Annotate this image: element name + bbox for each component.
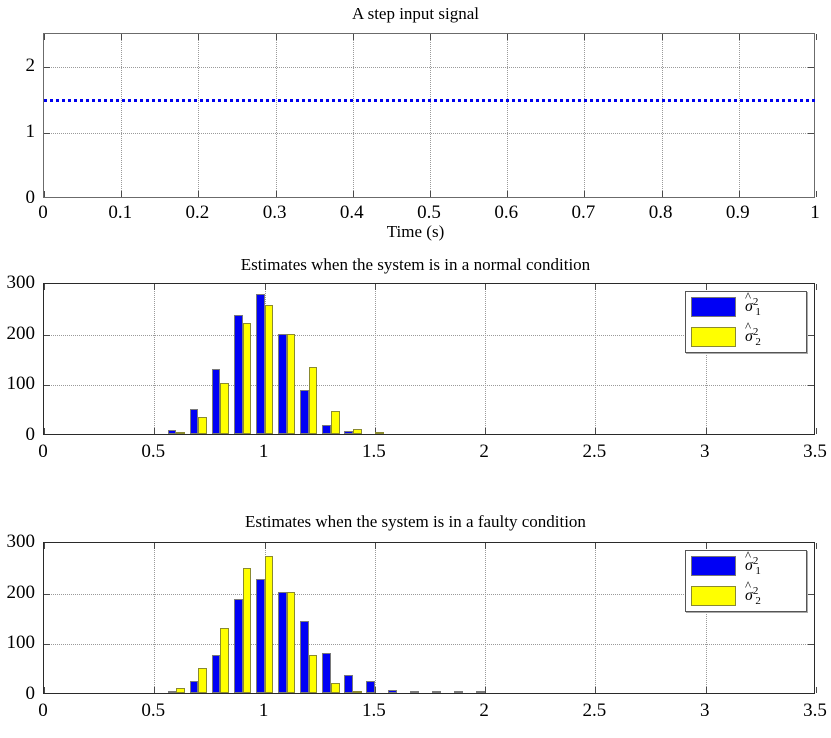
bar-sigma2-bin-0.8 bbox=[220, 383, 229, 434]
bar-sigma1-bin-0.7 bbox=[190, 681, 199, 693]
xtick-mark-top bbox=[44, 543, 45, 549]
ytick-mark-right bbox=[808, 385, 814, 386]
xtick-label: 3 bbox=[700, 700, 710, 722]
xtick-mark-top bbox=[816, 34, 817, 40]
xtick-label: 1.5 bbox=[362, 700, 386, 722]
ytick-label: 2 bbox=[0, 55, 35, 77]
legend-swatch-sigma1-hat-squared bbox=[691, 297, 736, 317]
bar-sigma1-bin-0.9 bbox=[234, 315, 243, 434]
xtick-label: 2.5 bbox=[583, 700, 607, 722]
xtick-mark-top bbox=[44, 284, 45, 290]
xtick-mark bbox=[44, 191, 45, 197]
ytick-mark-right bbox=[808, 133, 814, 134]
bar-sigma2-bin-1.2 bbox=[309, 367, 318, 434]
ytick-label: 100 bbox=[0, 373, 35, 395]
bar-sigma2-bin-0.9 bbox=[243, 323, 252, 434]
gridline-vertical bbox=[198, 34, 199, 197]
xtick-mark-top bbox=[595, 543, 596, 549]
xtick-mark bbox=[375, 687, 376, 693]
bar-sigma1-bin-0.6 bbox=[168, 691, 177, 693]
bar-sigma2-bin-1.5 bbox=[375, 432, 384, 434]
xtick-label: 3 bbox=[700, 441, 710, 463]
ytick-label: 1 bbox=[0, 121, 35, 143]
xtick-mark-top bbox=[430, 34, 431, 40]
legend-label-sigma1-hat-squared: ^σ21 bbox=[745, 296, 761, 319]
bar-sigma2-bin-1.3 bbox=[331, 411, 340, 434]
xtick-mark-top bbox=[154, 284, 155, 290]
xtick-mark-top bbox=[662, 34, 663, 40]
gridline-vertical bbox=[375, 284, 376, 434]
xtick-label: 1.5 bbox=[362, 441, 386, 463]
ytick-mark bbox=[44, 335, 50, 336]
panel2-title: Estimates when the system is in a normal… bbox=[0, 255, 831, 275]
xtick-mark bbox=[44, 428, 45, 434]
xtick-mark bbox=[816, 191, 817, 197]
xtick-mark-top bbox=[154, 543, 155, 549]
ytick-mark-right bbox=[808, 644, 814, 645]
chart-legend: ^σ21^σ22 bbox=[685, 550, 807, 612]
xtick-mark-top bbox=[584, 34, 585, 40]
bar-sigma2-bin-0.7 bbox=[198, 417, 207, 434]
xtick-mark bbox=[485, 687, 486, 693]
panel1-xaxis-label: Time (s) bbox=[0, 222, 831, 242]
bar-sigma2-bin-0.6 bbox=[176, 688, 185, 693]
xtick-mark-top bbox=[375, 543, 376, 549]
xtick-label: 0 bbox=[38, 700, 48, 722]
xtick-mark bbox=[706, 687, 707, 693]
ytick-mark bbox=[44, 385, 50, 386]
bar-sigma1-bin-1.3 bbox=[322, 653, 331, 693]
bar-sigma1-bin-1.8 bbox=[432, 691, 441, 693]
ytick-label: 0 bbox=[0, 424, 35, 446]
bar-sigma2-bin-1.1 bbox=[287, 592, 296, 693]
signal-line bbox=[44, 99, 816, 102]
legend-entry-sigma1-hat-squared: ^σ21 bbox=[686, 292, 806, 322]
ytick-label: 0 bbox=[0, 683, 35, 705]
ytick-mark-right bbox=[808, 67, 814, 68]
xtick-mark-top bbox=[265, 543, 266, 549]
xtick-label: 3.5 bbox=[803, 441, 827, 463]
xtick-mark bbox=[485, 428, 486, 434]
legend-label-sigma1-hat-squared: ^σ21 bbox=[745, 555, 761, 578]
gridline-horizontal bbox=[44, 67, 814, 68]
xtick-mark-top bbox=[198, 34, 199, 40]
bar-sigma2-bin-1 bbox=[265, 556, 274, 693]
xtick-label: 0.5 bbox=[417, 202, 441, 224]
xtick-mark bbox=[584, 191, 585, 197]
bar-sigma2-bin-1.2 bbox=[309, 655, 318, 694]
ytick-label: 200 bbox=[0, 582, 35, 604]
gridline-vertical bbox=[485, 284, 486, 434]
bar-sigma1-bin-1.4 bbox=[344, 675, 353, 693]
figure-canvas: A step input signal Time (s) 00.10.20.30… bbox=[0, 0, 831, 738]
xtick-mark bbox=[198, 191, 199, 197]
xtick-label: 0.9 bbox=[726, 202, 750, 224]
legend-label-sigma2-hat-squared: ^σ22 bbox=[745, 585, 761, 608]
gridline-vertical bbox=[662, 34, 663, 197]
legend-swatch-sigma2-hat-squared bbox=[691, 586, 736, 606]
bar-sigma2-bin-0.9 bbox=[243, 568, 252, 693]
bar-sigma1-bin-0.8 bbox=[212, 655, 221, 694]
chart-legend: ^σ21^σ22 bbox=[685, 291, 807, 353]
bar-sigma1-bin-1.2 bbox=[300, 621, 309, 693]
bar-sigma2-bin-1.1 bbox=[287, 334, 296, 434]
xtick-mark-top bbox=[706, 284, 707, 290]
bar-sigma1-bin-0.8 bbox=[212, 369, 221, 434]
bar-sigma1-bin-1.5 bbox=[366, 681, 375, 693]
xtick-label: 0 bbox=[38, 202, 48, 224]
panel3-title: Estimates when the system is in a faulty… bbox=[0, 512, 831, 532]
ytick-label: 100 bbox=[0, 632, 35, 654]
xtick-mark bbox=[662, 191, 663, 197]
gridline-horizontal bbox=[44, 644, 814, 645]
ytick-mark bbox=[44, 133, 50, 134]
bar-sigma2-bin-0.7 bbox=[198, 668, 207, 693]
xtick-mark-top bbox=[507, 34, 508, 40]
gridline-vertical bbox=[595, 543, 596, 693]
legend-swatch-sigma1-hat-squared bbox=[691, 556, 736, 576]
xtick-label: 0.6 bbox=[494, 202, 518, 224]
gridline-vertical bbox=[739, 34, 740, 197]
bar-sigma2-bin-1 bbox=[265, 305, 274, 434]
xtick-label: 3.5 bbox=[803, 700, 827, 722]
gridline-vertical bbox=[375, 543, 376, 693]
xtick-mark bbox=[44, 687, 45, 693]
xtick-mark-top bbox=[706, 543, 707, 549]
xtick-mark-top bbox=[816, 284, 817, 290]
xtick-label: 0.7 bbox=[572, 202, 596, 224]
xtick-label: 1 bbox=[259, 700, 269, 722]
bar-sigma1-bin-1.9 bbox=[454, 691, 463, 693]
gridline-vertical bbox=[595, 284, 596, 434]
legend-entry-sigma2-hat-squared: ^σ22 bbox=[686, 322, 806, 352]
bar-sigma1-bin-1.1 bbox=[278, 592, 287, 693]
ytick-label: 200 bbox=[0, 323, 35, 345]
gridline-vertical bbox=[430, 34, 431, 197]
ytick-label: 0 bbox=[0, 187, 35, 209]
xtick-mark bbox=[816, 428, 817, 434]
bar-sigma1-bin-0.9 bbox=[234, 599, 243, 693]
xtick-label: 1 bbox=[259, 441, 269, 463]
legend-swatch-sigma2-hat-squared bbox=[691, 327, 736, 347]
ytick-mark bbox=[44, 67, 50, 68]
ytick-mark-right bbox=[808, 335, 814, 336]
xtick-label: 1 bbox=[810, 202, 820, 224]
bar-sigma1-bin-1 bbox=[256, 579, 265, 693]
panel-estimates-normal: Estimates when the system is in a normal… bbox=[0, 250, 831, 490]
xtick-mark bbox=[507, 191, 508, 197]
ytick-mark bbox=[44, 644, 50, 645]
panel1-plot-area bbox=[43, 33, 815, 198]
xtick-mark-top bbox=[816, 543, 817, 549]
gridline-vertical bbox=[353, 34, 354, 197]
bar-sigma1-bin-0.7 bbox=[190, 409, 199, 434]
bar-sigma1-bin-1.1 bbox=[278, 334, 287, 434]
bar-sigma1-bin-2 bbox=[476, 691, 485, 693]
xtick-label: 2 bbox=[479, 700, 489, 722]
panel-step-input-signal: A step input signal Time (s) 00.10.20.30… bbox=[0, 0, 831, 250]
ytick-mark bbox=[44, 594, 50, 595]
legend-entry-sigma1-hat-squared: ^σ21 bbox=[686, 551, 806, 581]
gridline-vertical bbox=[507, 34, 508, 197]
bar-sigma1-bin-1.7 bbox=[410, 691, 419, 693]
xtick-mark-top bbox=[44, 34, 45, 40]
xtick-mark bbox=[430, 191, 431, 197]
ytick-label: 300 bbox=[0, 531, 35, 553]
bar-sigma2-bin-1.4 bbox=[353, 691, 362, 693]
xtick-label: 0 bbox=[38, 441, 48, 463]
gridline-vertical bbox=[276, 34, 277, 197]
xtick-label: 0.1 bbox=[108, 202, 132, 224]
panel-estimates-faulty: Estimates when the system is in a faulty… bbox=[0, 490, 831, 738]
xtick-mark-top bbox=[265, 284, 266, 290]
gridline-vertical bbox=[485, 543, 486, 693]
xtick-label: 0.8 bbox=[649, 202, 673, 224]
xtick-mark-top bbox=[353, 34, 354, 40]
bar-sigma2-bin-0.6 bbox=[176, 432, 185, 434]
gridline-horizontal bbox=[44, 385, 814, 386]
xtick-label: 0.5 bbox=[141, 441, 165, 463]
bar-sigma1-bin-1 bbox=[256, 294, 265, 434]
xtick-mark bbox=[595, 687, 596, 693]
bar-sigma2-bin-0.8 bbox=[220, 628, 229, 693]
gridline-horizontal bbox=[44, 133, 814, 134]
xtick-mark bbox=[154, 428, 155, 434]
xtick-mark-top bbox=[276, 34, 277, 40]
ytick-label: 300 bbox=[0, 272, 35, 294]
bar-sigma1-bin-1.4 bbox=[344, 431, 353, 434]
xtick-label: 0.3 bbox=[263, 202, 287, 224]
xtick-mark bbox=[706, 428, 707, 434]
xtick-label: 2.5 bbox=[583, 441, 607, 463]
xtick-label: 2 bbox=[479, 441, 489, 463]
bar-sigma1-bin-1.2 bbox=[300, 390, 309, 434]
xtick-mark bbox=[595, 428, 596, 434]
xtick-mark bbox=[816, 687, 817, 693]
xtick-mark-top bbox=[375, 284, 376, 290]
bar-sigma2-bin-1.4 bbox=[353, 429, 362, 434]
panel1-title: A step input signal bbox=[0, 4, 831, 24]
legend-entry-sigma2-hat-squared: ^σ22 bbox=[686, 581, 806, 611]
xtick-label: 0.4 bbox=[340, 202, 364, 224]
xtick-mark bbox=[154, 687, 155, 693]
xtick-label: 0.5 bbox=[141, 700, 165, 722]
gridline-vertical bbox=[121, 34, 122, 197]
ytick-mark-right bbox=[808, 594, 814, 595]
bar-sigma1-bin-0.6 bbox=[168, 430, 177, 434]
xtick-mark bbox=[121, 191, 122, 197]
gridline-vertical bbox=[154, 543, 155, 693]
xtick-mark-top bbox=[595, 284, 596, 290]
xtick-mark-top bbox=[121, 34, 122, 40]
xtick-mark-top bbox=[485, 284, 486, 290]
bar-sigma1-bin-1.6 bbox=[388, 690, 397, 693]
bar-sigma2-bin-1.3 bbox=[331, 683, 340, 693]
xtick-mark bbox=[353, 191, 354, 197]
gridline-vertical bbox=[154, 284, 155, 434]
bar-sigma1-bin-1.3 bbox=[322, 425, 331, 434]
xtick-mark-top bbox=[485, 543, 486, 549]
xtick-label: 0.2 bbox=[186, 202, 210, 224]
xtick-mark-top bbox=[739, 34, 740, 40]
legend-label-sigma2-hat-squared: ^σ22 bbox=[745, 326, 761, 349]
xtick-mark bbox=[739, 191, 740, 197]
xtick-mark bbox=[276, 191, 277, 197]
gridline-vertical bbox=[584, 34, 585, 197]
